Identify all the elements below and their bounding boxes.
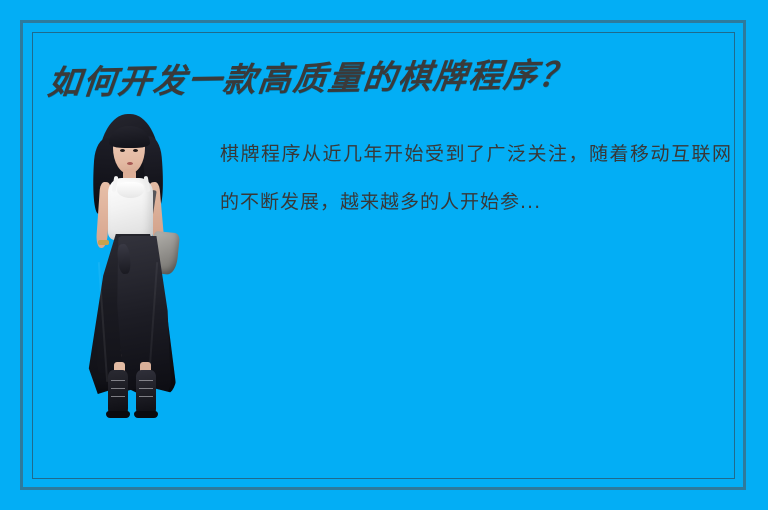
person-photo-cutout: [60, 112, 200, 424]
boot-lace: [139, 380, 153, 381]
boot-sole-right: [134, 411, 158, 418]
page-title: 如何开发一款高质量的棋牌程序？: [45, 46, 711, 104]
boot-sole-left: [106, 411, 130, 418]
article-card: 如何开发一款高质量的棋牌程序？ 棋牌程序从近几年开始受到了广泛关注，随着移动互联…: [0, 0, 768, 510]
wrist-accessory: [98, 240, 109, 245]
eye-left: [120, 149, 125, 152]
boot-lace: [139, 396, 153, 397]
boot-lace: [111, 396, 125, 397]
boot-lace: [139, 388, 153, 389]
mouth: [127, 162, 133, 165]
boot-lace: [111, 388, 125, 389]
boot-lace: [111, 380, 125, 381]
camisole-frill: [117, 182, 144, 198]
article-summary-text: 棋牌程序从近几年开始受到了广泛关注，随着移动互联网的不断发展，越来越多的人开始参…: [220, 130, 732, 226]
eye-right: [133, 149, 138, 152]
